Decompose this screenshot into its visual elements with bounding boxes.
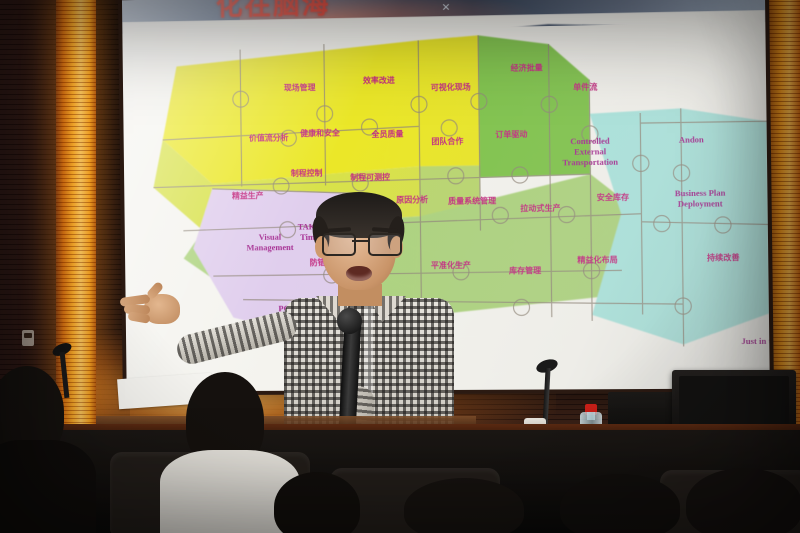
audience-head <box>686 468 800 533</box>
speaker-eyeglasses <box>322 233 398 253</box>
puzzle-piece-label: Just in time <box>741 336 769 346</box>
audience-head <box>404 478 524 533</box>
puzzle-piece-label: 全员质量 <box>371 129 404 140</box>
puzzle-piece-label: 现场管理 <box>284 82 316 93</box>
speaker-mouth <box>346 266 372 281</box>
puzzle-piece-label: 价值流分析 <box>249 132 289 143</box>
audience-head <box>560 474 680 533</box>
puzzle-piece-label: 单件流 <box>573 81 597 92</box>
puzzle-piece-label: 效率改进 <box>363 75 395 86</box>
slide-banner-x-mark: × <box>442 0 451 17</box>
puzzle-piece-label: 经济批量 <box>511 62 543 73</box>
puzzle-piece-label: 拉动式生产 <box>520 203 560 214</box>
left-light-panel <box>56 0 96 455</box>
audience-head <box>274 472 360 533</box>
screenshot-root: 化在脑海 × <box>0 0 800 533</box>
wall-outlet <box>22 330 34 346</box>
puzzle-piece-label: 团队合作 <box>431 136 463 147</box>
speaker-pointing-hand <box>130 276 186 328</box>
puzzle-piece-label: 制程控制 <box>291 168 323 178</box>
puzzle-piece-label: 制程可测控 <box>350 172 390 183</box>
puzzle-piece-label: 安全库存 <box>597 192 630 203</box>
puzzle-piece-label: 持续改善 <box>707 252 740 262</box>
puzzle-piece-label: 可视化现场 <box>431 81 471 92</box>
puzzle-piece-label: Andon <box>679 134 704 145</box>
puzzle-piece-label: 健康和安全 <box>300 127 341 138</box>
puzzle-piece-label: Business PlanDeployment <box>675 187 726 208</box>
puzzle-piece-label: 订单驱动 <box>495 129 527 140</box>
puzzle-piece-label: 精益化布局 <box>577 254 618 265</box>
